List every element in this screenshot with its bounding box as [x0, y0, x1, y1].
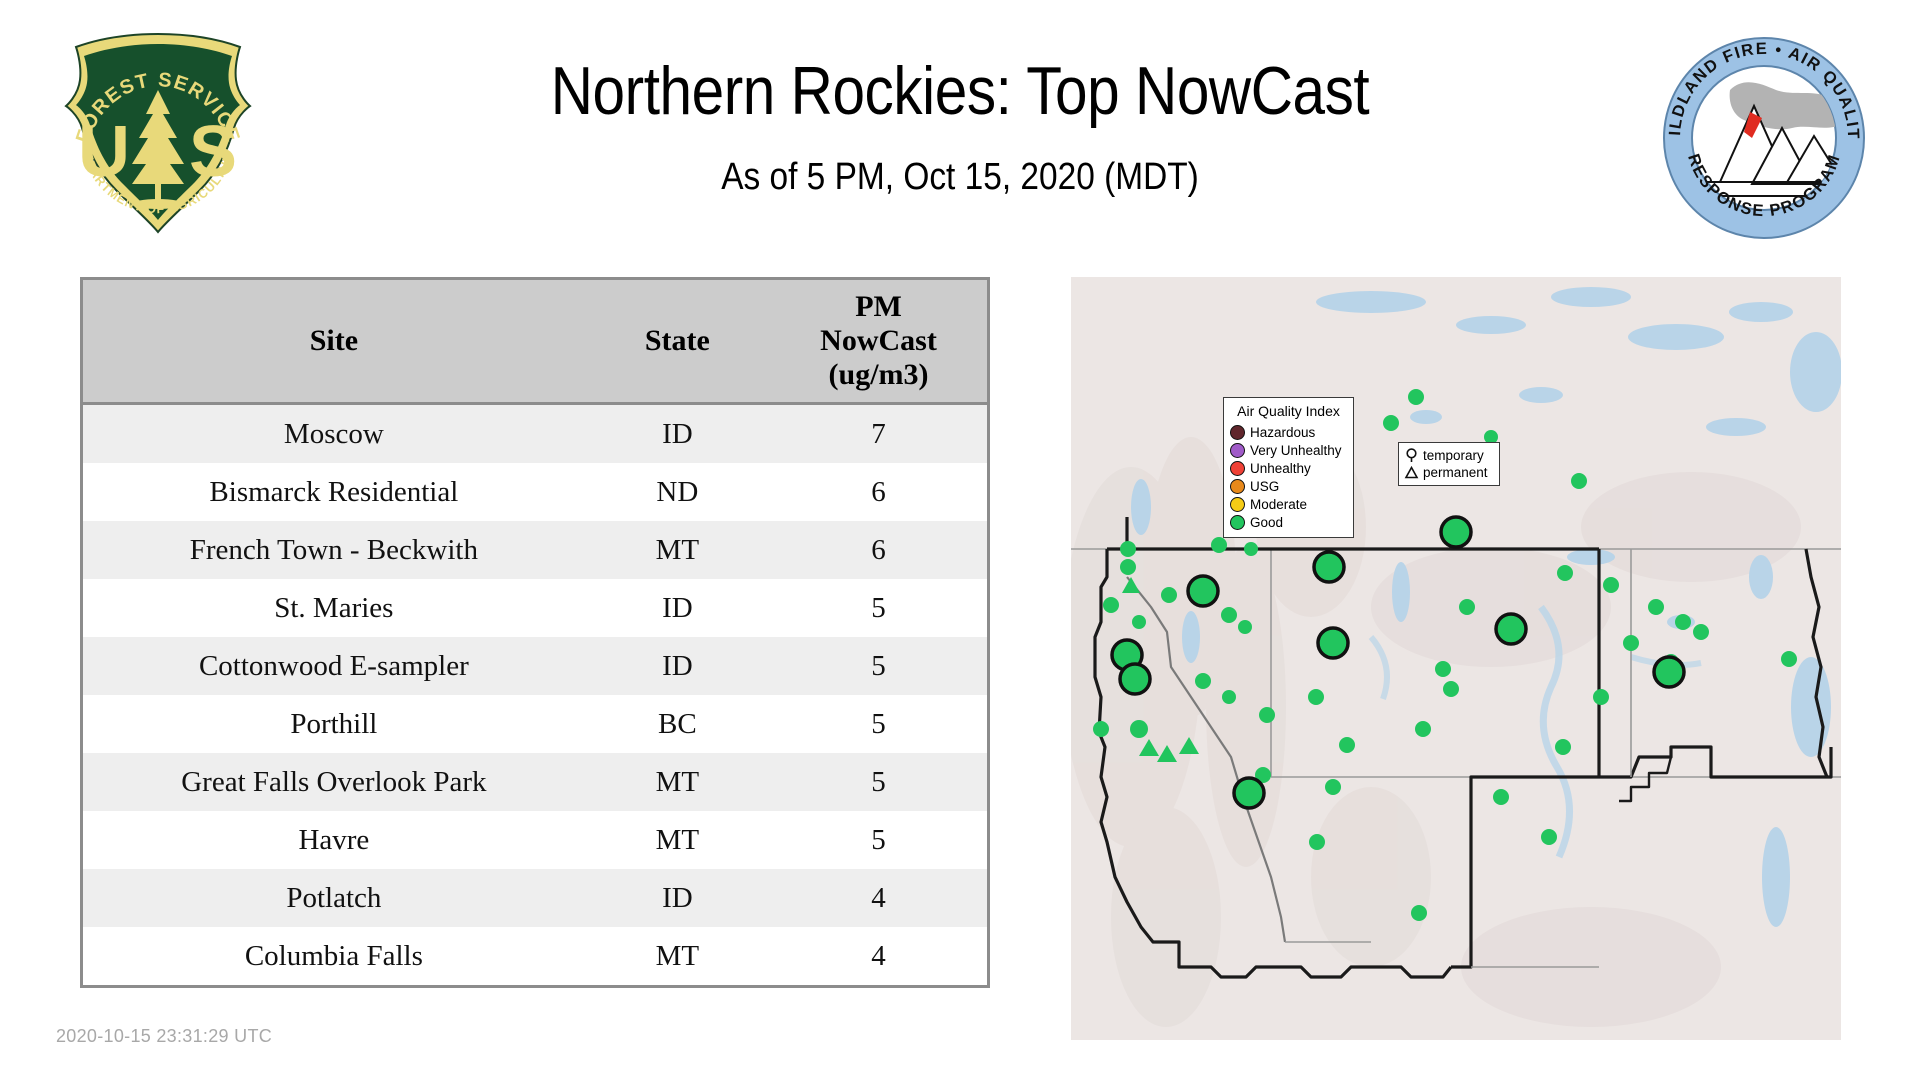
cell-state: MT	[585, 927, 770, 985]
page-header: FOREST SERVICE DEPARTMENT OF AGRICULTURE…	[0, 0, 1920, 262]
usfs-letter-s: S	[189, 112, 237, 192]
cell-state: ID	[585, 637, 770, 695]
table-row: French Town - BeckwithMT6	[83, 521, 987, 579]
table-row: HavreMT5	[83, 811, 987, 869]
aqi-legend-item: USG	[1230, 477, 1347, 495]
aqi-legend: Air Quality Index HazardousVery Unhealth…	[1223, 397, 1354, 538]
cell-pm-nowcast: 6	[770, 463, 987, 521]
nowcast-table: Site State PM NowCast (ug/m3) MoscowID7B…	[83, 280, 987, 985]
aqi-legend-title: Air Quality Index	[1230, 403, 1347, 420]
cell-state: ID	[585, 404, 770, 464]
cell-pm-nowcast: 6	[770, 521, 987, 579]
aqi-legend-rows: HazardousVery UnhealthyUnhealthyUSGModer…	[1230, 423, 1347, 531]
table-row: Bismarck ResidentialND6	[83, 463, 987, 521]
monitor-type-legend: temporary permanent	[1398, 442, 1500, 486]
aqi-legend-item: Good	[1230, 513, 1347, 531]
aqi-legend-item: Hazardous	[1230, 423, 1347, 441]
triangle-outline-icon	[1404, 465, 1419, 480]
cell-site: Great Falls Overlook Park	[83, 753, 585, 811]
column-header-pm-line3: (ug/m3)	[774, 358, 983, 392]
cell-site: St. Maries	[83, 579, 585, 637]
legend-permanent-label: permanent	[1423, 465, 1488, 480]
table-row: Cottonwood E-samplerID5	[83, 637, 987, 695]
cell-pm-nowcast: 5	[770, 579, 987, 637]
cell-pm-nowcast: 5	[770, 753, 987, 811]
table-row: St. MariesID5	[83, 579, 987, 637]
aqi-legend-label: USG	[1250, 479, 1279, 494]
table-row: PotlatchID4	[83, 869, 987, 927]
cell-site: Potlatch	[83, 869, 585, 927]
cell-pm-nowcast: 5	[770, 811, 987, 869]
cell-state: MT	[585, 521, 770, 579]
cell-site: Bismarck Residential	[83, 463, 585, 521]
aqi-legend-label: Unhealthy	[1250, 461, 1311, 476]
column-header-state: State	[585, 280, 770, 404]
table-header: Site State PM NowCast (ug/m3)	[83, 280, 987, 404]
cell-site: Columbia Falls	[83, 927, 585, 985]
aqi-legend-label: Hazardous	[1250, 425, 1315, 440]
aqi-legend-swatch	[1230, 479, 1245, 494]
aqi-map[interactable]: Air Quality Index HazardousVery Unhealth…	[1071, 277, 1841, 1040]
cell-site: Cottonwood E-sampler	[83, 637, 585, 695]
table-body: MoscowID7Bismarck ResidentialND6French T…	[83, 404, 987, 986]
table-row: MoscowID7	[83, 404, 987, 464]
title-block: Northern Rockies: Top NowCast As of 5 PM…	[300, 52, 1620, 200]
table-row: Columbia FallsMT4	[83, 927, 987, 985]
wfaqrp-logo: WILDLAND FIRE • AIR QUALITY RESPONSE PRO…	[1658, 32, 1870, 244]
table-row: Great Falls Overlook ParkMT5	[83, 753, 987, 811]
usfs-letter-u: U	[78, 112, 130, 192]
aqi-legend-item: Unhealthy	[1230, 459, 1347, 477]
aqi-legend-swatch	[1230, 461, 1245, 476]
cell-state: MT	[585, 811, 770, 869]
cell-site: Moscow	[83, 404, 585, 464]
cell-site: Porthill	[83, 695, 585, 753]
circle-outline-icon	[1404, 448, 1419, 463]
column-header-pm-nowcast: PM NowCast (ug/m3)	[770, 280, 987, 404]
cell-state: ND	[585, 463, 770, 521]
aqi-legend-swatch	[1230, 515, 1245, 530]
aqi-legend-label: Moderate	[1250, 497, 1307, 512]
legend-temporary-label: temporary	[1423, 448, 1484, 463]
aqi-legend-item: Moderate	[1230, 495, 1347, 513]
cell-pm-nowcast: 4	[770, 927, 987, 985]
legend-permanent-row: permanent	[1404, 464, 1494, 481]
aqi-legend-swatch	[1230, 497, 1245, 512]
column-header-site: Site	[83, 280, 585, 404]
table-row: PorthillBC5	[83, 695, 987, 753]
column-header-pm-line2: NowCast	[774, 324, 983, 358]
cell-state: ID	[585, 869, 770, 927]
cell-state: BC	[585, 695, 770, 753]
page-subtitle: As of 5 PM, Oct 15, 2020 (MDT)	[379, 154, 1541, 200]
cell-pm-nowcast: 4	[770, 869, 987, 927]
cell-pm-nowcast: 5	[770, 637, 987, 695]
cell-pm-nowcast: 7	[770, 404, 987, 464]
table-header-row: Site State PM NowCast (ug/m3)	[83, 280, 987, 404]
cell-site: Havre	[83, 811, 585, 869]
cell-state: MT	[585, 753, 770, 811]
column-header-pm-line1: PM	[774, 290, 983, 324]
cell-pm-nowcast: 5	[770, 695, 987, 753]
aqi-legend-label: Good	[1250, 515, 1283, 530]
aqi-legend-swatch	[1230, 425, 1245, 440]
aqi-legend-swatch	[1230, 443, 1245, 458]
cell-site: French Town - Beckwith	[83, 521, 585, 579]
cell-state: ID	[585, 579, 770, 637]
footer-timestamp: 2020-10-15 23:31:29 UTC	[56, 1026, 272, 1047]
usfs-shield-logo: FOREST SERVICE DEPARTMENT OF AGRICULTURE…	[58, 28, 258, 238]
legend-temporary-row: temporary	[1404, 447, 1494, 464]
aqi-legend-item: Very Unhealthy	[1230, 441, 1347, 459]
aqi-legend-label: Very Unhealthy	[1250, 443, 1342, 458]
nowcast-table-panel: Site State PM NowCast (ug/m3) MoscowID7B…	[80, 277, 990, 988]
map-canvas[interactable]	[1071, 277, 1841, 1040]
page-title: Northern Rockies: Top NowCast	[392, 52, 1527, 130]
